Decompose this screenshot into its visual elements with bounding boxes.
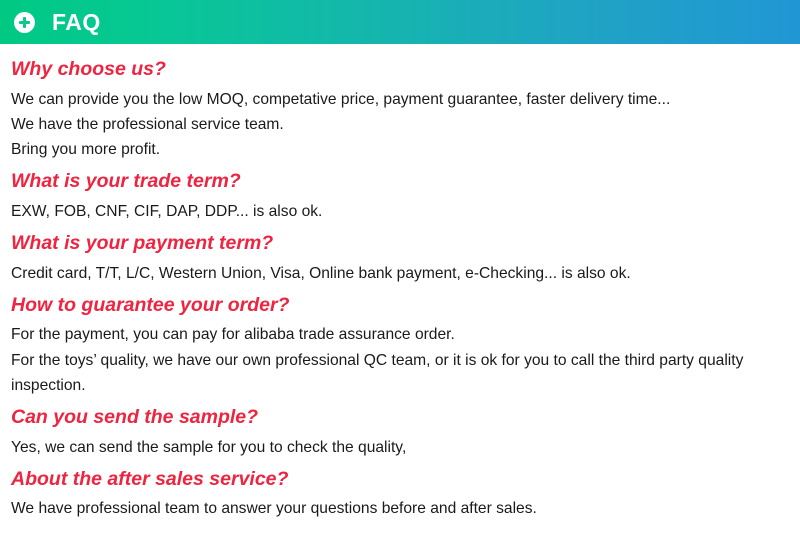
faq-header-bar: FAQ	[0, 0, 800, 44]
page-title: FAQ	[52, 11, 101, 34]
faq-answer: We have the professional service team.	[11, 112, 788, 137]
faq-item: What is your payment term? Credit card, …	[11, 224, 788, 286]
faq-answer: EXW, FOB, CNF, CIF, DAP, DDP... is also …	[11, 199, 788, 224]
faq-question: What is your payment term?	[11, 224, 788, 261]
faq-item: What is your trade term? EXW, FOB, CNF, …	[11, 162, 788, 224]
faq-answer: For the toys’ quality, we have our own p…	[11, 348, 786, 399]
faq-question: What is your trade term?	[11, 162, 788, 199]
faq-answer: We can provide you the low MOQ, competat…	[11, 87, 788, 112]
faq-page: FAQ Why choose us? We can provide you th…	[0, 0, 800, 556]
faq-answer: Credit card, T/T, L/C, Western Union, Vi…	[11, 261, 788, 286]
faq-answer: Bring you more profit.	[11, 137, 788, 162]
faq-item: About the after sales service? We have p…	[11, 460, 788, 522]
faq-item: How to guarantee your order? For the pay…	[11, 286, 788, 398]
faq-answer: Yes, we can send the sample for you to c…	[11, 435, 788, 460]
faq-answer: We have professional team to answer your…	[11, 496, 788, 521]
faq-question: Can you send the sample?	[11, 398, 788, 435]
plus-circle-icon[interactable]	[14, 12, 35, 33]
faq-question: About the after sales service?	[11, 460, 788, 497]
faq-content: Why choose us? We can provide you the lo…	[0, 44, 800, 522]
faq-answer: For the payment, you can pay for alibaba…	[11, 322, 788, 347]
faq-question: How to guarantee your order?	[11, 286, 788, 323]
faq-item: Why choose us? We can provide you the lo…	[11, 50, 788, 162]
faq-question: Why choose us?	[11, 50, 788, 87]
faq-item: Can you send the sample? Yes, we can sen…	[11, 398, 788, 460]
